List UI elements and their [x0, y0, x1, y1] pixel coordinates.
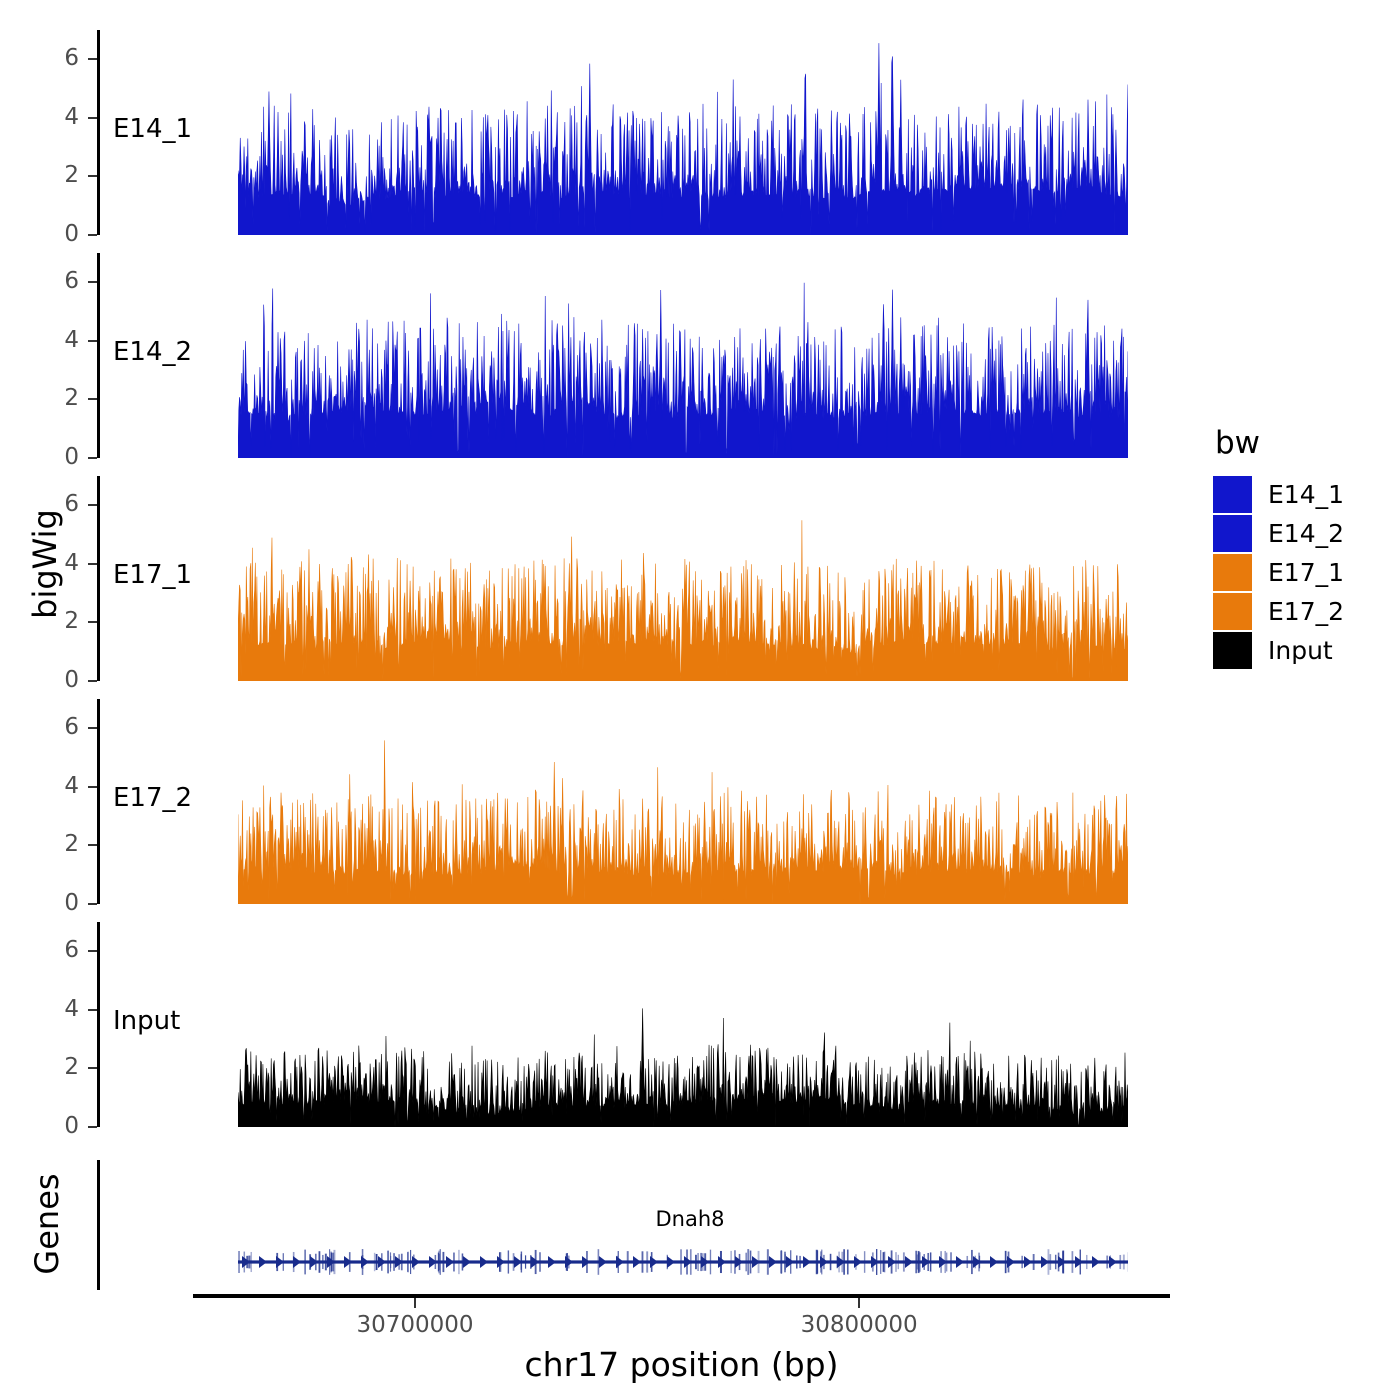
- y-tick-mark: [88, 903, 97, 905]
- legend-label: Input: [1268, 636, 1333, 665]
- legend-item-e14_2[interactable]: E14_2: [1213, 514, 1344, 553]
- x-axis-line: [193, 1294, 1170, 1298]
- y-tick-label: 6: [39, 270, 79, 293]
- y-tick-label: 6: [39, 939, 79, 962]
- track-label-input: Input: [113, 1006, 180, 1036]
- gene-name-label: Dnah8: [590, 1207, 790, 1231]
- y-tick-label: 4: [39, 329, 79, 352]
- track-label-e17_1: E17_1: [113, 560, 192, 590]
- y-tick-label: 0: [39, 446, 79, 469]
- y-axis-line-e17_1: [97, 476, 100, 681]
- y-tick-label: 4: [39, 775, 79, 798]
- y-axis-line-e14_2: [97, 253, 100, 458]
- legend-label: E14_2: [1268, 519, 1344, 548]
- legend-label: E17_1: [1268, 558, 1344, 587]
- genes-panel-axis: [97, 1160, 100, 1290]
- y-tick-label: 2: [39, 833, 79, 856]
- y-tick-label: 2: [39, 610, 79, 633]
- y-tick-mark: [88, 1067, 97, 1069]
- x-tick-mark: [858, 1298, 860, 1308]
- y-tick-label: 6: [39, 47, 79, 70]
- y-tick-mark: [88, 727, 97, 729]
- y-tick-mark: [88, 950, 97, 952]
- legend-item-e17_2[interactable]: E17_2: [1213, 592, 1344, 631]
- y-tick-label: 4: [39, 552, 79, 575]
- y-tick-label: 0: [39, 892, 79, 915]
- legend-swatch: [1213, 593, 1252, 630]
- y-tick-mark: [88, 175, 97, 177]
- signal-track-e17_2[interactable]: [238, 699, 1128, 904]
- legend-swatch: [1213, 476, 1252, 513]
- legend-title: bw: [1215, 425, 1344, 461]
- signal-track-input[interactable]: [238, 922, 1128, 1127]
- y-tick-mark: [88, 340, 97, 342]
- y-tick-label: 0: [39, 1115, 79, 1138]
- y-tick-label: 0: [39, 223, 79, 246]
- x-axis-title: chr17 position (bp): [193, 1345, 1170, 1384]
- y-axis-line-e14_1: [97, 30, 100, 235]
- y-axis-line-input: [97, 922, 100, 1127]
- y-tick-mark: [88, 58, 97, 60]
- track-label-e17_2: E17_2: [113, 783, 192, 813]
- y-tick-mark: [88, 680, 97, 682]
- y-tick-label: 0: [39, 669, 79, 692]
- x-tick-mark: [414, 1298, 416, 1308]
- x-tick-label: 30700000: [295, 1312, 535, 1338]
- signal-track-e17_1[interactable]: [238, 476, 1128, 681]
- legend-label: E14_1: [1268, 480, 1344, 509]
- y-tick-mark: [88, 786, 97, 788]
- y-tick-mark: [88, 234, 97, 236]
- gene-model-track[interactable]: [238, 1249, 1128, 1279]
- legend: bw E14_1E14_2E17_1E17_2Input: [1213, 425, 1344, 670]
- y-tick-mark: [88, 844, 97, 846]
- y-tick-mark: [88, 1009, 97, 1011]
- y-tick-label: 4: [39, 106, 79, 129]
- y-tick-label: 2: [39, 1056, 79, 1079]
- signal-track-e14_1[interactable]: [238, 30, 1128, 235]
- y-tick-label: 6: [39, 493, 79, 516]
- y-tick-label: 4: [39, 998, 79, 1021]
- legend-item-e17_1[interactable]: E17_1: [1213, 553, 1344, 592]
- track-label-e14_2: E14_2: [113, 337, 192, 367]
- y-tick-mark: [88, 1126, 97, 1128]
- y-tick-mark: [88, 117, 97, 119]
- legend-label: E17_2: [1268, 597, 1344, 626]
- x-tick-label: 30800000: [739, 1312, 979, 1338]
- y-tick-label: 6: [39, 716, 79, 739]
- y-tick-label: 2: [39, 387, 79, 410]
- legend-swatch: [1213, 554, 1252, 591]
- legend-swatch: [1213, 632, 1252, 669]
- legend-item-input[interactable]: Input: [1213, 631, 1344, 670]
- y-tick-mark: [88, 563, 97, 565]
- genes-axis-title: Genes: [28, 1129, 66, 1319]
- y-axis-line-e17_2: [97, 699, 100, 904]
- y-tick-label: 2: [39, 164, 79, 187]
- legend-items: E14_1E14_2E17_1E17_2Input: [1213, 475, 1344, 670]
- genome-browser-figure: bigWig Genes 0246E14_10246E14_20246E17_1…: [0, 0, 1400, 1400]
- legend-item-e14_1[interactable]: E14_1: [1213, 475, 1344, 514]
- y-tick-mark: [88, 398, 97, 400]
- y-tick-mark: [88, 457, 97, 459]
- signal-track-e14_2[interactable]: [238, 253, 1128, 458]
- track-label-e14_1: E14_1: [113, 114, 192, 144]
- y-tick-mark: [88, 621, 97, 623]
- y-tick-mark: [88, 504, 97, 506]
- y-tick-mark: [88, 281, 97, 283]
- legend-swatch: [1213, 515, 1252, 552]
